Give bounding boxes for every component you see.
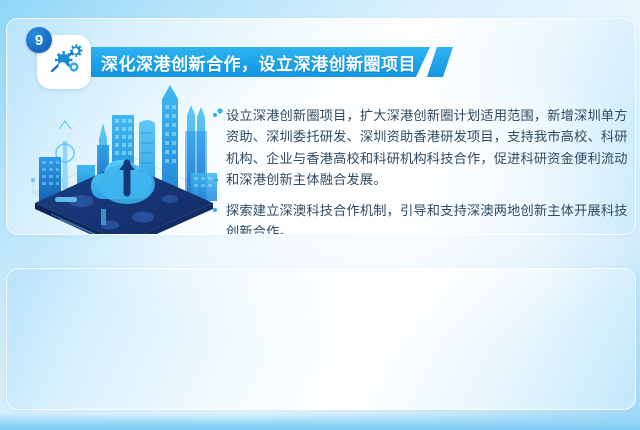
isometric-city-illustration	[15, 81, 230, 235]
bullet-text: 设立深港创新圈项目，扩大深港创新圈计划适用范围，新增深圳单方资助、深圳委托研发、…	[226, 108, 628, 187]
bottom-band	[0, 412, 640, 430]
bullet-dot-icon	[213, 113, 217, 117]
section-1-bullet-list: 设立深港创新圈项目，扩大深港创新圈计划适用范围，新增深圳单方资助、深圳委托研发、…	[212, 105, 630, 235]
list-item: 设立深港创新圈项目，扩大深港创新圈计划适用范围，新增深圳单方资助、深圳委托研发、…	[212, 105, 630, 191]
section-card-1: 深化深港创新合作，设立深港创新圈项目	[6, 18, 636, 235]
section-1-ribbon-tail	[427, 47, 453, 77]
bullet-text: 探索建立深澳科技合作机制，引导和支持深澳两地创新主体开展科技创新合作。	[226, 203, 628, 236]
section-card-2: 强化国际科技创新合作，拓展国际合作项目类别	[6, 268, 636, 410]
section-1-number-badge: 9	[26, 27, 52, 53]
section-1-title: 深化深港创新合作，设立深港创新圈项目	[101, 50, 416, 75]
section-1-title-ribbon: 深化深港创新合作，设立深港创新圈项目	[85, 47, 430, 77]
bullet-dot-icon	[213, 208, 217, 212]
poster-canvas: 深化深港创新合作，设立深港创新圈项目	[0, 0, 640, 430]
list-item: 探索建立深澳科技合作机制，引导和支持深澳两地创新主体开展科技创新合作。	[212, 200, 630, 236]
